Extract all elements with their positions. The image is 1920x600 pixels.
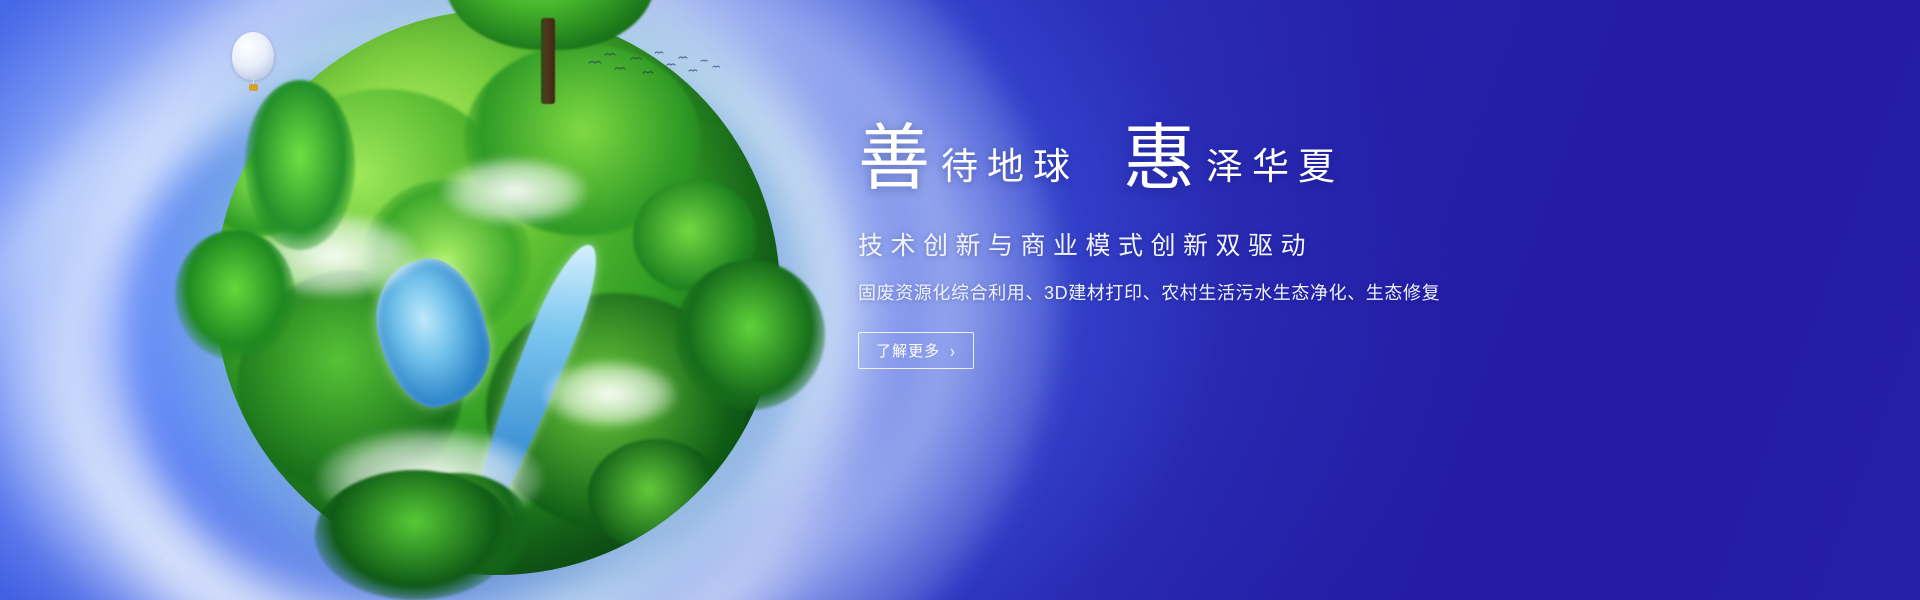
tree-icon bbox=[245, 80, 355, 250]
subtitle: 技术创新与商业模式创新双驱动 bbox=[858, 234, 1558, 259]
hero-copy: 善 待地球 惠 泽华夏 技术创新与商业模式创新双驱动 固废资源化综合利用、3D建… bbox=[858, 122, 1558, 369]
headline-chars-small-1: 待地球 bbox=[941, 148, 1079, 185]
tree-canopy bbox=[588, 439, 724, 552]
tree-icon bbox=[315, 470, 515, 600]
learn-more-label: 了解更多 bbox=[876, 340, 940, 361]
cloud-icon bbox=[441, 157, 588, 225]
tree-icon bbox=[175, 230, 295, 360]
balloon-basket bbox=[249, 84, 258, 91]
headline-char-large-1: 善 bbox=[858, 122, 931, 194]
description: 固废资源化综合利用、3D建材打印、农村生活污水生态净化、生态修复 bbox=[858, 281, 1558, 306]
headline: 善 待地球 惠 泽华夏 bbox=[858, 122, 1558, 210]
birds-flock-icon bbox=[585, 45, 725, 85]
chevron-right-icon: › bbox=[950, 341, 956, 360]
headline-chars-small-2: 泽华夏 bbox=[1206, 148, 1344, 185]
learn-more-button[interactable]: 了解更多 › bbox=[858, 332, 974, 369]
hero-banner: 善 待地球 惠 泽华夏 技术创新与商业模式创新双驱动 固废资源化综合利用、3D建… bbox=[0, 0, 1920, 600]
tree-icon bbox=[675, 260, 825, 410]
tree-trunk bbox=[541, 18, 555, 104]
cloud-icon bbox=[543, 360, 679, 428]
hot-air-balloon-icon bbox=[232, 32, 278, 94]
balloon-envelope bbox=[232, 32, 274, 80]
headline-char-large-2: 惠 bbox=[1123, 122, 1196, 194]
